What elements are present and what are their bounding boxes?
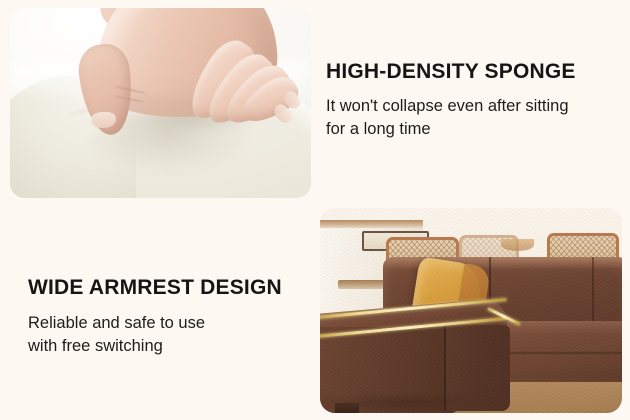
feature-description-high-density-sponge: It won't collapse even after sitting for…: [326, 95, 626, 141]
cabinet-top-edge: [320, 220, 423, 228]
promo-feature-page: HIGH-DENSITY SPONGE It won't collapse ev…: [0, 0, 630, 420]
feature-description-line: with free switching: [28, 335, 318, 358]
sponge-foam-press-photo: [10, 8, 311, 198]
feature-title-wide-armrest-design: WIDE ARMREST DESIGN: [28, 276, 318, 300]
feature-text-wide-armrest-design: WIDE ARMREST DESIGN Reliable and safe to…: [28, 276, 318, 358]
sofa-seat-crease: [495, 352, 622, 354]
feature-description-line: Reliable and safe to use: [28, 312, 318, 335]
feature-description-wide-armrest-design: Reliable and safe to use with free switc…: [28, 312, 318, 358]
pressing-hand: [58, 8, 311, 149]
feature-title-high-density-sponge: HIGH-DENSITY SPONGE: [326, 60, 626, 84]
feature-description-line: for a long time: [326, 118, 626, 141]
feature-description-line: It won't collapse even after sitting: [326, 95, 626, 118]
sofa-foot: [335, 403, 359, 413]
feature-text-high-density-sponge: HIGH-DENSITY SPONGE It won't collapse ev…: [326, 60, 626, 141]
brown-leather-sofa-photo: [320, 208, 622, 413]
